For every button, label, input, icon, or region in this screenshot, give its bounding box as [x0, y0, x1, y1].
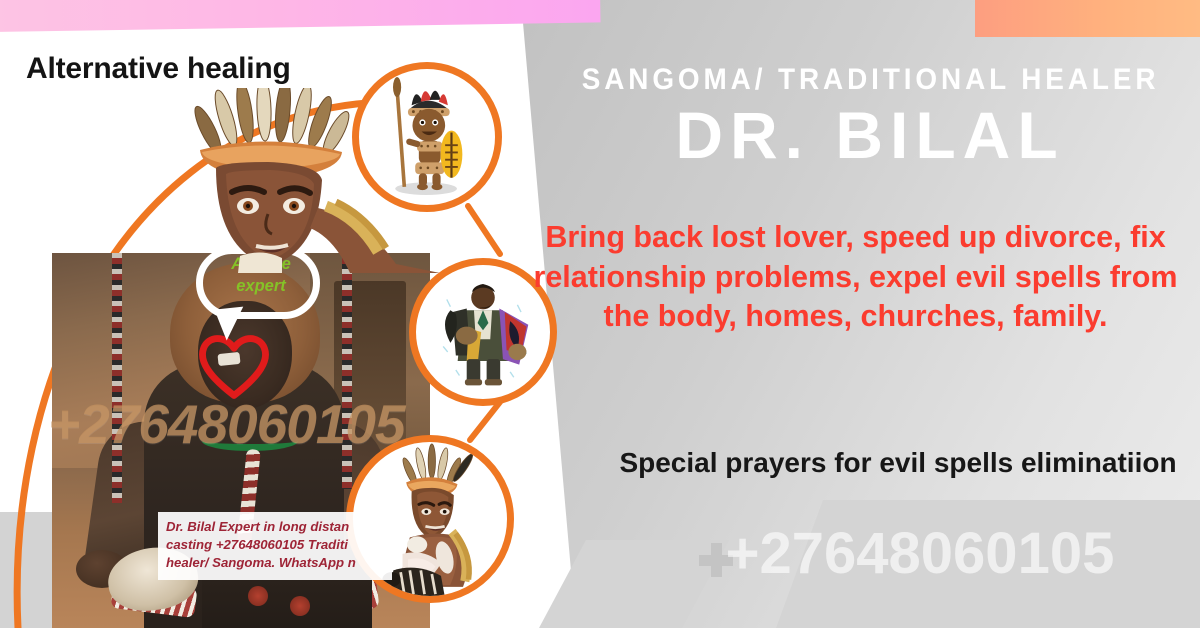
prayers-text: Special prayers for evil spells eliminat…	[612, 445, 1184, 482]
services-text: Bring back lost lover, speed up divorce,…	[533, 218, 1178, 337]
caption-line-1: Dr. Bilal Expert in long distan	[166, 518, 384, 536]
pink-top-bar	[0, 0, 601, 32]
page-title: Alternative healing	[26, 52, 291, 86]
traditional-healer-robe-icon	[416, 265, 550, 399]
photo-caption: Dr. Bilal Expert in long distan casting …	[158, 512, 392, 580]
ghost-phone: +27648060105	[640, 520, 1200, 587]
caption-line-2: casting +27648060105 Traditi	[166, 536, 384, 554]
circle-zulu-warrior[interactable]	[352, 62, 502, 212]
kicker-text: SANGOMA/ TRADITIONAL HEALER	[582, 63, 1159, 97]
zulu-warrior-cartoon-icon	[359, 69, 495, 205]
orange-top-bar	[975, 0, 1200, 37]
heart-outline-icon	[196, 330, 272, 400]
caption-line-3: healer/ Sangoma. WhatsApp n	[166, 554, 384, 572]
watermark-phone: +27648060105	[48, 392, 448, 456]
poster-canvas: Alternative healing Ask the expert	[0, 0, 1200, 628]
grey-block-bottom-left	[0, 512, 54, 628]
healer-name: DR. BILAL	[560, 101, 1180, 170]
